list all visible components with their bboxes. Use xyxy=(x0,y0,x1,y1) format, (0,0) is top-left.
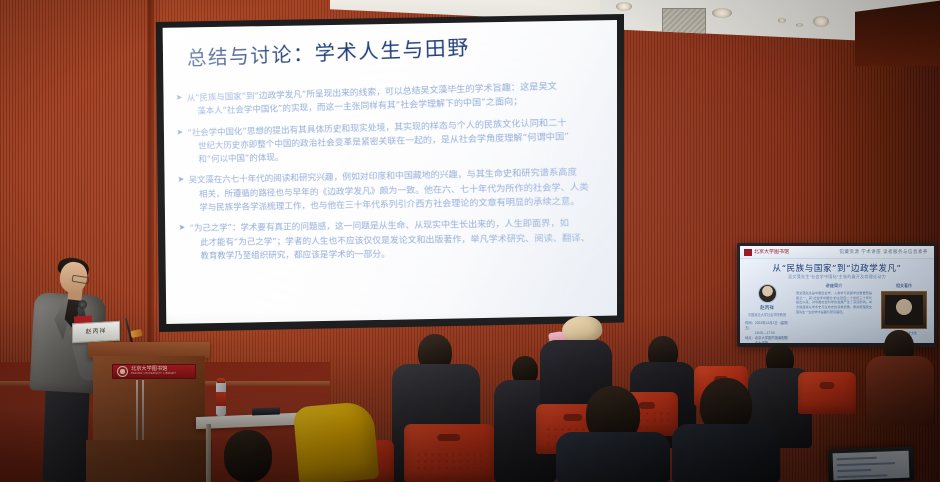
table-object xyxy=(252,408,280,416)
poster-abstract-column: 讲座简介 吴文藻先生是中国社会学、人类学与民族学的重要奠基者之一，其“社会学中国… xyxy=(796,283,872,314)
audience-torso xyxy=(556,432,670,482)
audience-torso xyxy=(672,424,780,482)
slide-bullet: ➤ 从“民族与国家”到“边政学发凡”所呈现出来的线索，可以总结吴文藻毕生的学术旨… xyxy=(176,76,617,119)
laptop-content-line xyxy=(837,457,877,460)
lecture-hall-photo: 总结与讨论：学术人生与田野 ➤ 从“民族与国家”到“边政学发凡”所呈现出来的线索… xyxy=(0,0,940,482)
speaker-name: 赵丙祥 xyxy=(745,305,789,311)
poster-section-heading: 讲座简介 xyxy=(796,283,872,289)
ceiling-vent xyxy=(662,8,706,36)
poster-meta: 时间：2023年12月1日（星期五） 15:00—17:00 地点：北京大学图书… xyxy=(745,321,789,343)
poster-abstract: 吴文藻先生是中国社会学、人类学与民族学的重要奠基者之一，其“社会学中国化”的主张… xyxy=(796,291,872,314)
book-cover-image xyxy=(881,291,927,329)
poster-topbar: 北京大学图书馆 馆藏资源 学术讲座 读者服务与信息素养 xyxy=(740,246,934,259)
poster-meta-line: 时间：2023年12月1日（星期五） xyxy=(745,321,789,331)
poster-book-heading: 相关著作 xyxy=(879,283,929,289)
audience-torso xyxy=(866,356,934,426)
slide-bullet: ➤ 吴文藻在六七十年代的阅读和研究兴趣，例如对印度和中国藏地的兴趣，与其生命史和… xyxy=(177,164,617,215)
downlight-icon xyxy=(616,2,632,11)
plaque-label: 北京大学图书馆 PEKING UNIVERSITY LIBRARY xyxy=(131,367,176,375)
auditorium-chair xyxy=(798,372,856,414)
book-portrait xyxy=(885,295,923,325)
bullet-marker-icon: ➤ xyxy=(178,222,185,235)
microphone-head-icon xyxy=(78,300,87,309)
yellow-coat xyxy=(293,401,379,482)
poster-book-column: 相关著作 吴文藻先生学术文集 xyxy=(879,283,929,335)
podium-base xyxy=(86,440,212,482)
plaque-subtitle: PEKING UNIVERSITY LIBRARY xyxy=(131,373,176,376)
table-leg xyxy=(206,424,211,482)
downlight-icon xyxy=(712,8,732,18)
poster-speaker-column: 赵丙祥 中国政法大学社会学院教授 时间：2023年12月1日（星期五） 15:0… xyxy=(745,284,789,343)
university-seal-icon xyxy=(117,366,128,377)
bullet-marker-icon: ➤ xyxy=(177,174,184,187)
auditorium-chair xyxy=(404,424,494,482)
speaker-photo xyxy=(758,284,777,303)
secondary-monitor-poster: 北京大学图书馆 馆藏资源 学术讲座 读者服务与信息素养 从“民族与国家”到“边政… xyxy=(740,246,934,343)
audience-head xyxy=(224,430,272,482)
slide-bullet: ➤ “为己之学”：学术要有真正的问题感，这一问题是从生命、从现实中生长出来的，人… xyxy=(178,215,617,263)
poster-meta-line: 北大书院 xyxy=(745,341,789,343)
chair-handle-slot xyxy=(819,382,834,389)
bottle-cap xyxy=(217,378,225,383)
projection-screen: 总结与讨论：学术人生与田野 ➤ 从“民族与国家”到“边政学发凡”所呈现出来的线索… xyxy=(159,20,617,324)
laptop-content-line xyxy=(837,462,895,466)
nameplate-text: 赵丙祥 xyxy=(73,322,119,342)
podium-stripe xyxy=(142,380,144,440)
audience-laptop xyxy=(827,447,914,482)
slide-title: 总结与讨论：学术人生与田野 xyxy=(187,26,617,71)
chair-handle-slot xyxy=(437,434,460,441)
downlight-icon xyxy=(778,18,786,23)
slide-bullet-list: ➤ 从“民族与国家”到“边政学发凡”所呈现出来的线索，可以总结吴文藻毕生的学术旨… xyxy=(176,76,617,270)
poster-subtitle: 吴文藻先生“社会学中国化”主张的展开及其理论动力 xyxy=(740,274,934,280)
laptop-content-line xyxy=(837,474,887,478)
poster-title: 从“民族与国家”到“边政学发凡” xyxy=(740,262,934,274)
podium-plaque: 北京大学图书馆 PEKING UNIVERSITY LIBRARY xyxy=(112,364,196,379)
slide-bullet: ➤ “社会学中国化”思想的提出有其具体历史和现实处境，其实现的样态与个人的民族文… xyxy=(176,113,617,167)
downlight-icon xyxy=(813,16,829,27)
chair-handle-slot xyxy=(639,402,655,409)
library-logo: 北京大学图书馆 xyxy=(744,249,790,256)
bottle-label xyxy=(216,392,226,406)
downlight-icon xyxy=(796,23,803,27)
speaker-nameplate: 赵丙祥 xyxy=(72,321,120,344)
speaker-affiliation: 中国政法大学社会学院教授 xyxy=(745,312,789,317)
speaker-legs xyxy=(42,385,89,482)
presentation-slide: 总结与讨论：学术人生与田野 ➤ 从“民族与国家”到“边政学发凡”所呈现出来的线索… xyxy=(159,20,617,324)
chair-handle-slot xyxy=(563,414,582,421)
podium-stripe xyxy=(136,380,138,440)
bullet-marker-icon: ➤ xyxy=(176,92,183,105)
poster-menu: 馆藏资源 学术讲座 读者服务与信息素养 xyxy=(840,249,928,255)
laptop-content-line xyxy=(837,469,871,472)
bullet-marker-icon: ➤ xyxy=(176,126,183,139)
chair-perforation xyxy=(415,451,483,474)
laptop-screen xyxy=(833,451,910,481)
